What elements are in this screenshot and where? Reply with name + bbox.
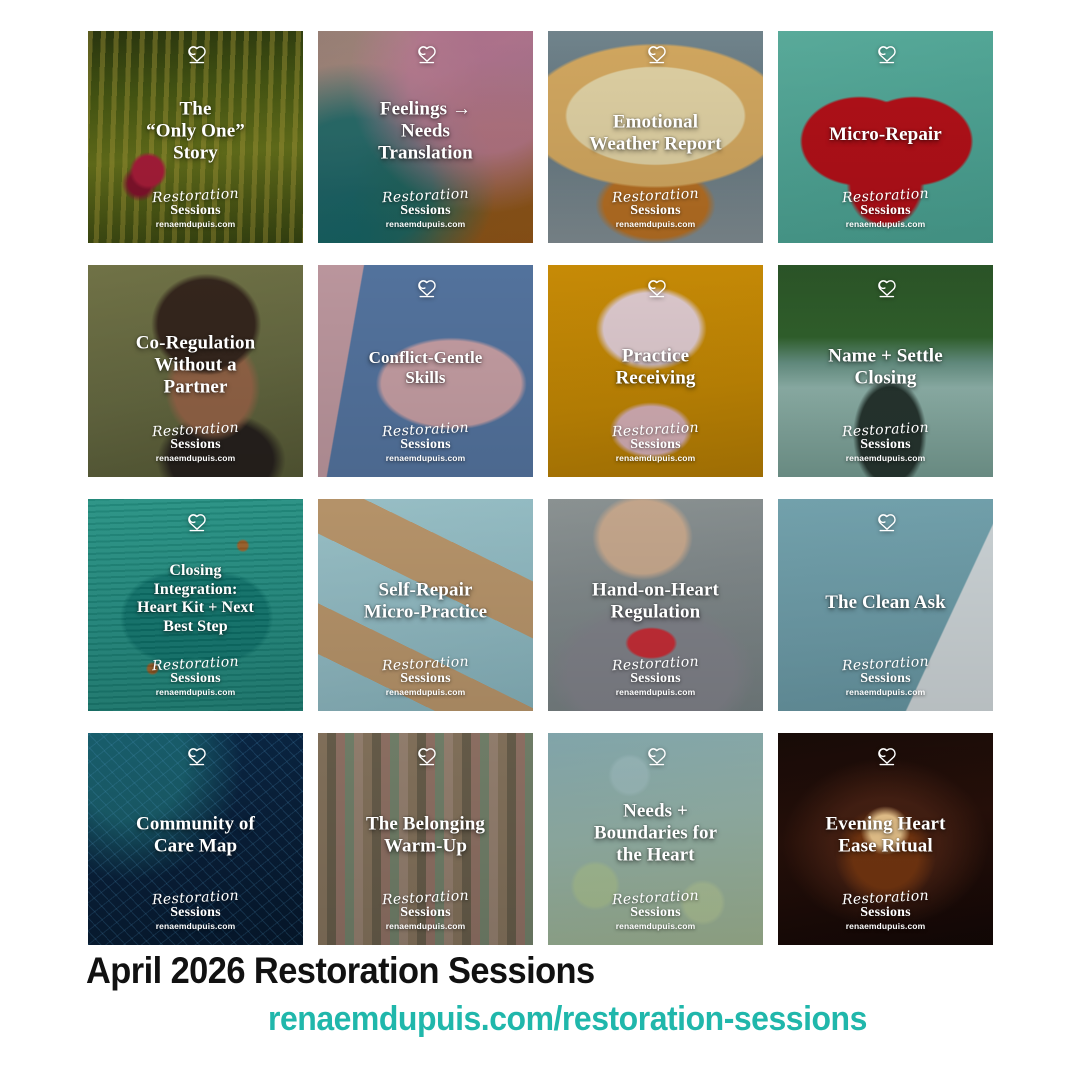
- card-brand-lockup: Restoration Sessions renaemdupuis.com: [548, 423, 763, 465]
- session-card-grid: The “Only One” Story Restoration Session…: [88, 31, 993, 945]
- card-brand-lockup: Restoration Sessions renaemdupuis.com: [548, 189, 763, 231]
- card-brand-lockup: Restoration Sessions renaemdupuis.com: [778, 657, 993, 699]
- brand-url: renaemdupuis.com: [318, 452, 533, 465]
- card-brand-lockup: Restoration Sessions renaemdupuis.com: [318, 891, 533, 933]
- heart-loop-logo-icon: [548, 43, 763, 69]
- card-title: Hand-on-Heart Regulation: [556, 579, 755, 623]
- session-card-7[interactable]: Practice Receiving Restoration Sessions …: [548, 265, 763, 477]
- brand-url: renaemdupuis.com: [318, 218, 533, 231]
- card-brand-lockup: Restoration Sessions renaemdupuis.com: [318, 189, 533, 231]
- card-brand-lockup: Restoration Sessions renaemdupuis.com: [548, 891, 763, 933]
- card-brand-lockup: Restoration Sessions renaemdupuis.com: [318, 657, 533, 699]
- session-card-2[interactable]: Feelings → Needs Translation Restoration…: [318, 31, 533, 243]
- card-title: Self-Repair Micro-Practice: [326, 579, 525, 623]
- session-card-1[interactable]: The “Only One” Story Restoration Session…: [88, 31, 303, 243]
- session-card-6[interactable]: Conflict-Gentle Skills Restoration Sessi…: [318, 265, 533, 477]
- card-brand-lockup: Restoration Sessions renaemdupuis.com: [778, 423, 993, 465]
- heart-loop-logo-icon: [548, 277, 763, 303]
- card-title: Co-Regulation Without a Partner: [96, 333, 295, 399]
- card-brand-lockup: Restoration Sessions renaemdupuis.com: [88, 657, 303, 699]
- session-card-13[interactable]: Community of Care Map Restoration Sessio…: [88, 733, 303, 945]
- session-card-4[interactable]: Micro-Repair Restoration Sessions renaem…: [778, 31, 993, 243]
- card-title: Evening Heart Ease Ritual: [786, 813, 985, 857]
- card-title: Closing Integration: Heart Kit + Next Be…: [96, 562, 295, 636]
- card-brand-lockup: Restoration Sessions renaemdupuis.com: [88, 423, 303, 465]
- session-card-12[interactable]: The Clean Ask Restoration Sessions renae…: [778, 499, 993, 711]
- brand-url: renaemdupuis.com: [318, 920, 533, 933]
- card-title: Emotional Weather Report: [556, 111, 755, 155]
- brand-url: renaemdupuis.com: [778, 452, 993, 465]
- heart-loop-logo-icon: [778, 511, 993, 537]
- card-title: The Belonging Warm-Up: [326, 813, 525, 857]
- brand-url: renaemdupuis.com: [778, 920, 993, 933]
- brand-url: renaemdupuis.com: [88, 686, 303, 699]
- brand-url: renaemdupuis.com: [318, 686, 533, 699]
- heart-loop-logo-icon: [318, 277, 533, 303]
- card-title: Name + Settle Closing: [786, 345, 985, 389]
- card-brand-lockup: Restoration Sessions renaemdupuis.com: [778, 891, 993, 933]
- card-title: Conflict-Gentle Skills: [326, 348, 525, 387]
- session-card-3[interactable]: Emotional Weather Report Restoration Ses…: [548, 31, 763, 243]
- session-card-10[interactable]: Self-Repair Micro-Practice Restoration S…: [318, 499, 533, 711]
- heart-loop-logo-icon: [778, 745, 993, 771]
- footer-headline: April 2026 Restoration Sessions: [86, 952, 595, 989]
- session-card-8[interactable]: Name + Settle Closing Restoration Sessio…: [778, 265, 993, 477]
- footer-url[interactable]: renaemdupuis.com/restoration-sessions: [268, 1002, 867, 1036]
- heart-loop-logo-icon: [88, 43, 303, 69]
- brand-url: renaemdupuis.com: [548, 218, 763, 231]
- brand-url: renaemdupuis.com: [88, 452, 303, 465]
- card-brand-lockup: Restoration Sessions renaemdupuis.com: [88, 891, 303, 933]
- brand-url: renaemdupuis.com: [778, 686, 993, 699]
- card-brand-lockup: Restoration Sessions renaemdupuis.com: [778, 189, 993, 231]
- session-card-9[interactable]: Closing Integration: Heart Kit + Next Be…: [88, 499, 303, 711]
- card-title: Practice Receiving: [556, 345, 755, 389]
- card-title: Community of Care Map: [96, 813, 295, 857]
- heart-loop-logo-icon: [88, 745, 303, 771]
- card-title: Micro-Repair: [786, 124, 985, 146]
- card-title: The “Only One” Story: [96, 99, 295, 165]
- session-card-16[interactable]: Evening Heart Ease Ritual Restoration Se…: [778, 733, 993, 945]
- poster-canvas: The “Only One” Story Restoration Session…: [0, 0, 1080, 1080]
- session-card-5[interactable]: Co-Regulation Without a Partner Restorat…: [88, 265, 303, 477]
- card-title: Needs + Boundaries for the Heart: [556, 801, 755, 867]
- card-brand-lockup: Restoration Sessions renaemdupuis.com: [548, 657, 763, 699]
- card-brand-lockup: Restoration Sessions renaemdupuis.com: [88, 189, 303, 231]
- brand-url: renaemdupuis.com: [548, 920, 763, 933]
- card-title: The Clean Ask: [786, 592, 985, 614]
- session-card-11[interactable]: Hand-on-Heart Regulation Restoration Ses…: [548, 499, 763, 711]
- heart-loop-logo-icon: [318, 745, 533, 771]
- heart-loop-logo-icon: [778, 277, 993, 303]
- card-title: Feelings → Needs Translation: [326, 99, 525, 165]
- brand-url: renaemdupuis.com: [548, 452, 763, 465]
- heart-loop-logo-icon: [548, 745, 763, 771]
- brand-url: renaemdupuis.com: [88, 920, 303, 933]
- heart-loop-logo-icon: [88, 511, 303, 537]
- heart-loop-logo-icon: [318, 43, 533, 69]
- brand-url: renaemdupuis.com: [88, 218, 303, 231]
- brand-url: renaemdupuis.com: [548, 686, 763, 699]
- session-card-14[interactable]: The Belonging Warm-Up Restoration Sessio…: [318, 733, 533, 945]
- card-brand-lockup: Restoration Sessions renaemdupuis.com: [318, 423, 533, 465]
- session-card-15[interactable]: Needs + Boundaries for the Heart Restora…: [548, 733, 763, 945]
- heart-loop-logo-icon: [778, 43, 993, 69]
- brand-url: renaemdupuis.com: [778, 218, 993, 231]
